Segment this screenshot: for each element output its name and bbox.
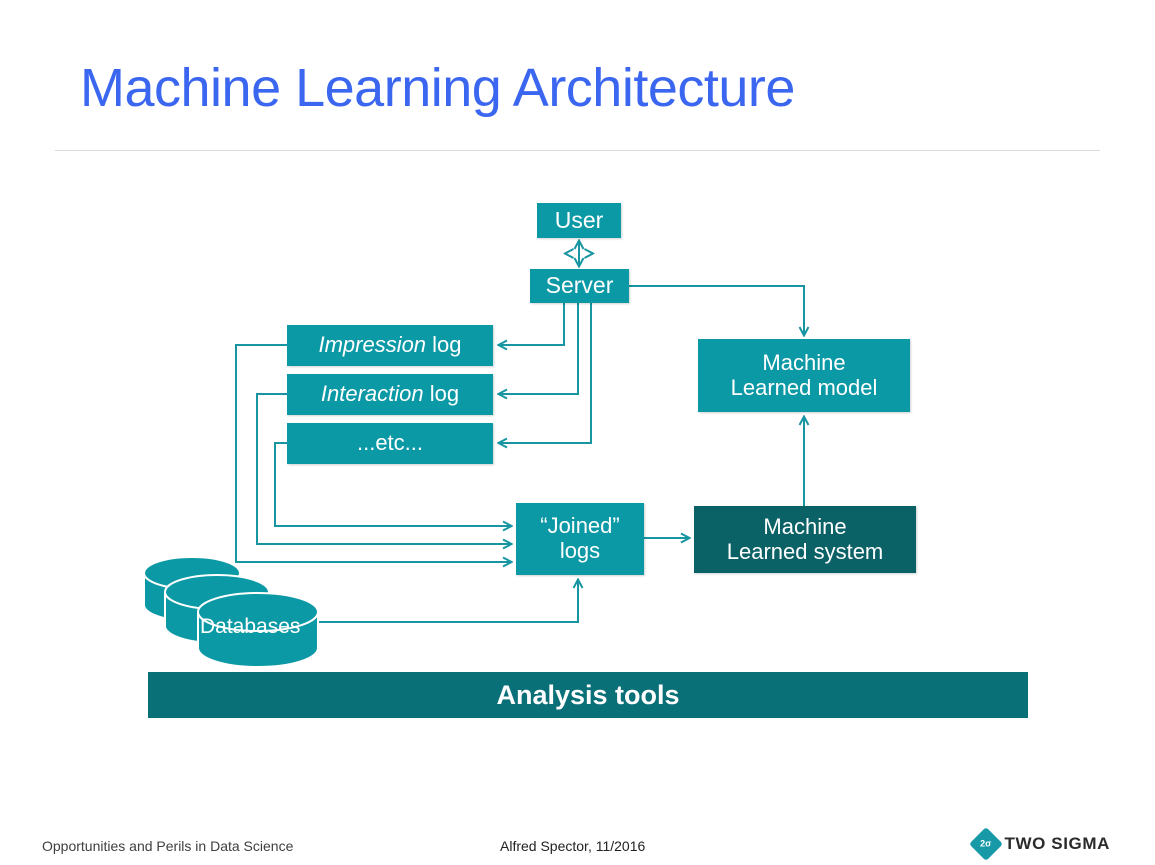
impression-suffix: log: [426, 332, 461, 357]
node-user-label: User: [555, 208, 604, 234]
model-line1: Machine: [731, 351, 878, 376]
node-machine-learned-model[interactable]: Machine Learned model: [698, 339, 910, 412]
connector-server-model: [629, 286, 804, 335]
impression-emphasis: Impression: [318, 332, 426, 357]
joined-logs-line2: logs: [540, 539, 619, 564]
interaction-emphasis: Interaction: [321, 381, 424, 406]
node-user[interactable]: User: [537, 203, 621, 238]
node-machine-learned-system[interactable]: Machine Learned system: [694, 506, 916, 573]
node-server[interactable]: Server: [530, 269, 629, 303]
node-impression-log[interactable]: Impression log: [287, 325, 493, 366]
node-interaction-log-label: Interaction log: [321, 382, 459, 407]
node-etc-log-label: ...etc...: [357, 431, 423, 456]
connector-server-impression: [499, 303, 564, 345]
two-sigma-mark-text: 2σ: [980, 839, 991, 849]
two-sigma-wordmark: TWO SIGMA: [1005, 834, 1111, 854]
connector-server-interaction: [499, 303, 578, 394]
analysis-tools-label: Analysis tools: [496, 680, 679, 711]
node-interaction-log[interactable]: Interaction log: [287, 374, 493, 415]
node-impression-log-label: Impression log: [318, 333, 461, 358]
interaction-suffix: log: [424, 381, 459, 406]
system-line2: Learned system: [727, 540, 884, 565]
two-sigma-diamond-icon: 2σ: [969, 827, 1003, 861]
system-line1: Machine: [727, 515, 884, 540]
node-joined-logs[interactable]: “Joined” logs: [516, 503, 644, 575]
joined-logs-line1: “Joined”: [540, 514, 619, 539]
databases-icon: [144, 557, 318, 667]
connector-interaction-joined: [257, 394, 511, 544]
model-line2: Learned model: [731, 376, 878, 401]
footer-center-text: Alfred Spector, 11/2016: [500, 838, 645, 854]
node-server-label: Server: [546, 273, 614, 299]
node-etc-log[interactable]: ...etc...: [287, 423, 493, 464]
slide-canvas: Machine Learning Architecture: [0, 0, 1155, 865]
footer-left-text: Opportunities and Perils in Data Science: [42, 838, 293, 854]
analysis-tools-bar[interactable]: Analysis tools: [148, 672, 1028, 718]
connector-databases-joined: [318, 580, 578, 622]
two-sigma-logo: 2σ TWO SIGMA: [974, 832, 1111, 856]
diagram-connectors: [0, 0, 1155, 865]
